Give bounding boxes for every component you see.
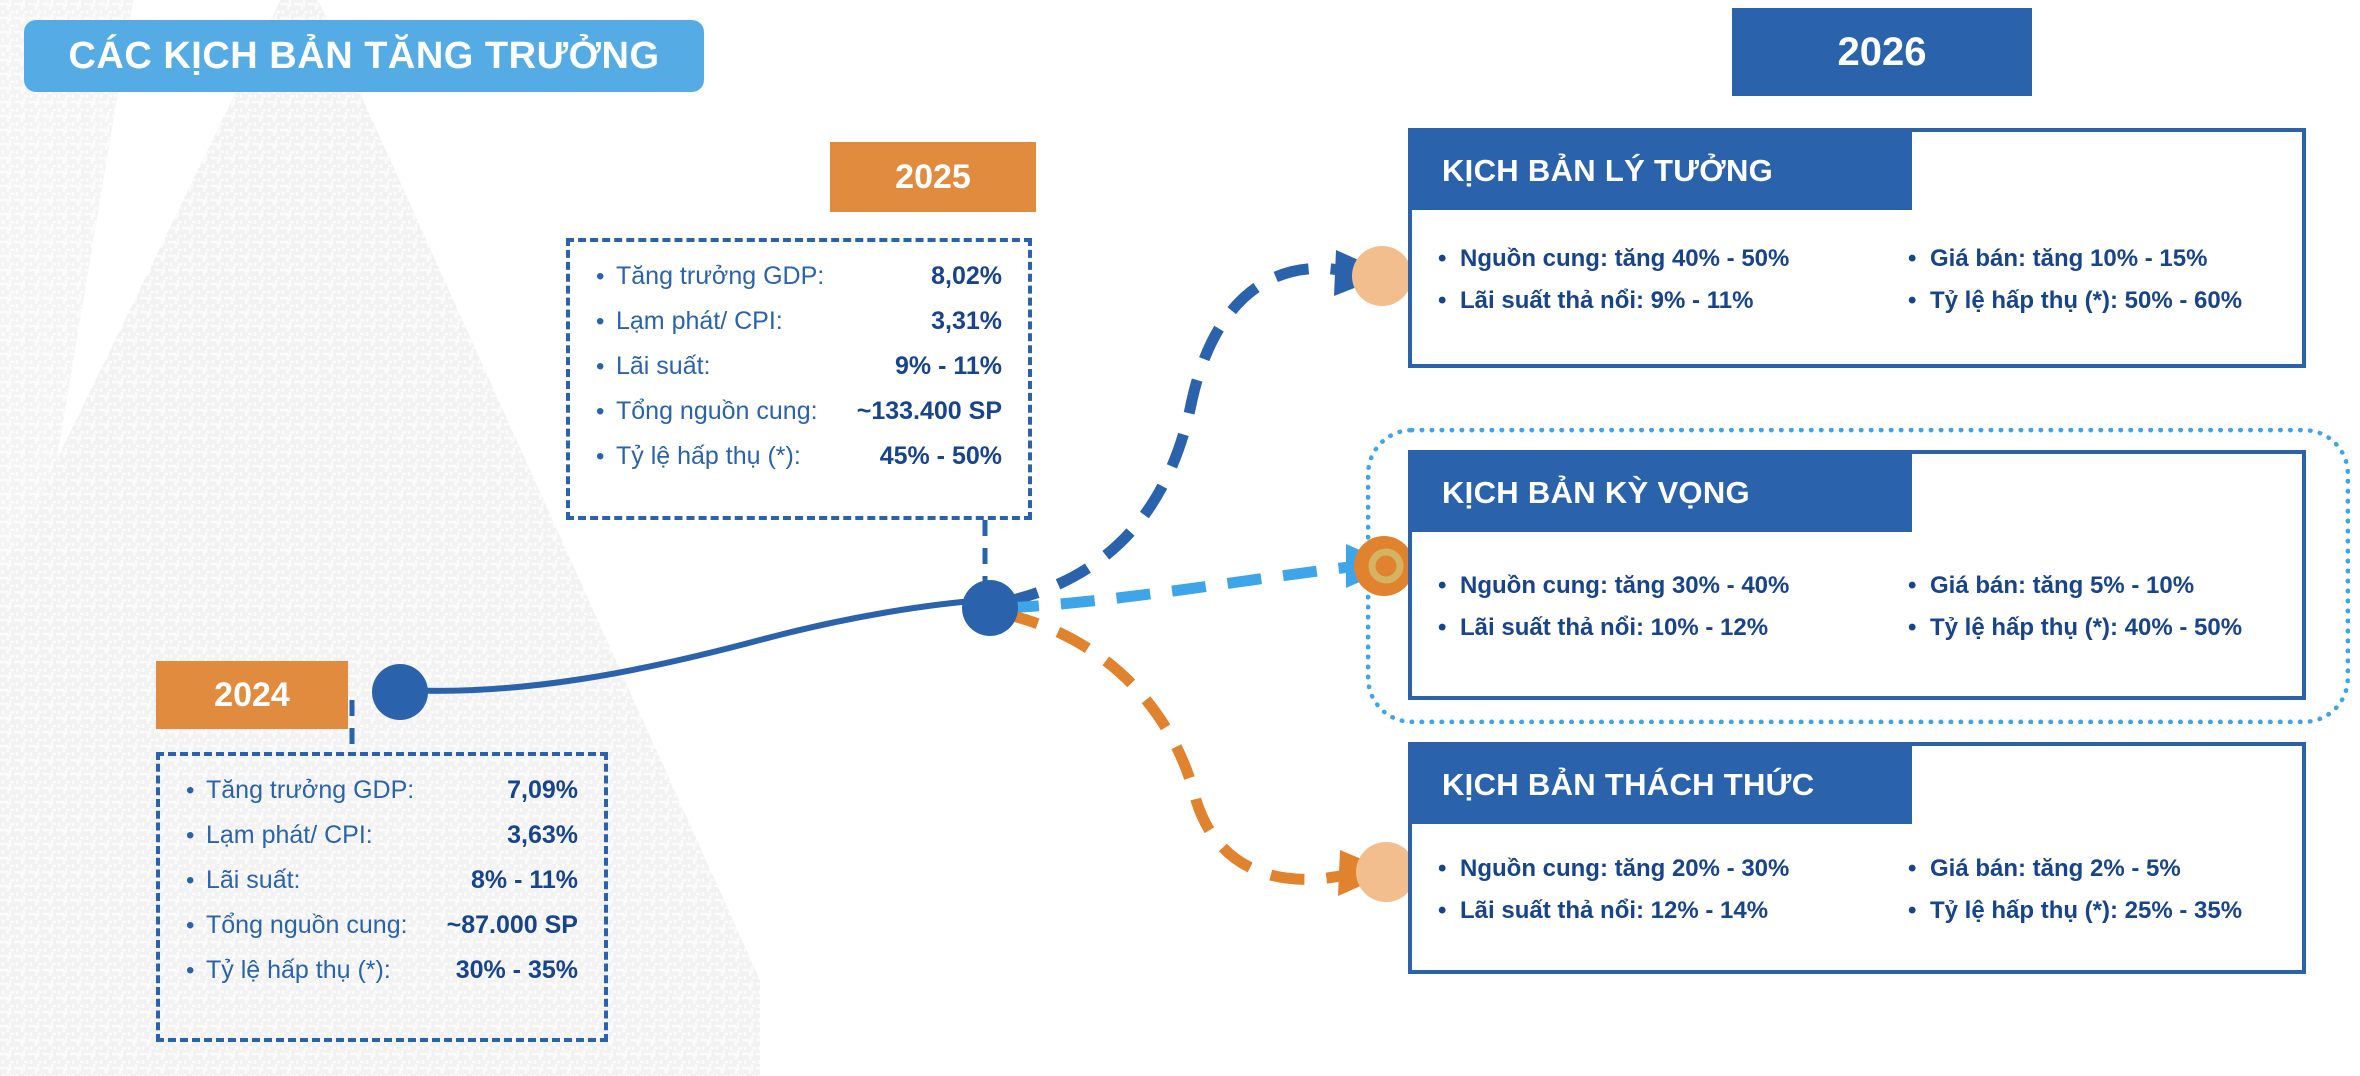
metric-value: 45% - 50% xyxy=(874,444,1002,469)
scenario-item-text: Nguồn cung: tăng 30% - 40% xyxy=(1460,572,1789,600)
scenario-line: • Nguồn cung: tăng 20% - 30% • Giá bán: … xyxy=(1438,855,2276,883)
scenario-card-expected[interactable]: KỊCH BẢN KỲ VỌNG • Nguồn cung: tăng 30% … xyxy=(1408,450,2306,700)
branch-expected xyxy=(1005,566,1358,608)
scenario-item: • Nguồn cung: tăng 40% - 50% xyxy=(1438,245,1908,273)
metrics-box-2024: • Tăng trưởng GDP: 7,09% • Lạm phát/ CPI… xyxy=(156,752,608,1042)
metric-row: • Tăng trưởng GDP: 8,02% xyxy=(596,264,1002,289)
scenario-body-expected: • Nguồn cung: tăng 30% - 40% • Giá bán: … xyxy=(1412,532,2302,696)
scenario-item: • Lãi suất thả nổi: 12% - 14% xyxy=(1438,897,1908,925)
bullet-icon: • xyxy=(1438,572,1460,600)
metric-row: • Tổng nguồn cung: ~87.000 SP xyxy=(186,913,578,938)
scenario-body-ideal: • Nguồn cung: tăng 40% - 50% • Giá bán: … xyxy=(1412,210,2302,364)
bullet-icon: • xyxy=(1438,855,1460,883)
scenario-header-challenge: KỊCH BẢN THÁCH THỨC xyxy=(1412,746,1912,824)
metric-value: 7,09% xyxy=(501,778,578,803)
branch-challenge xyxy=(1005,614,1350,879)
metric-value: ~133.400 SP xyxy=(851,399,1002,424)
year-badge-2026: 2026 xyxy=(1732,8,2032,96)
bullet-icon: • xyxy=(186,869,206,893)
timeline-node-2024 xyxy=(372,664,428,720)
metric-row: • Tăng trưởng GDP: 7,09% xyxy=(186,778,578,803)
bullet-icon: • xyxy=(596,310,616,334)
metric-row: • Tổng nguồn cung: ~133.400 SP xyxy=(596,399,1002,424)
metric-value: ~87.000 SP xyxy=(441,913,578,938)
scenario-item-text: Giá bán: tăng 10% - 15% xyxy=(1930,245,2207,273)
scenario-item-text: Tỷ lệ hấp thụ (*): 40% - 50% xyxy=(1930,614,2242,642)
trendline-2024-2025 xyxy=(400,600,985,691)
branch-ideal xyxy=(1005,268,1350,602)
year-badge-2025-label: 2025 xyxy=(895,158,971,197)
bullet-icon: • xyxy=(1438,614,1460,642)
scenario-item: • Lãi suất thả nổi: 9% - 11% xyxy=(1438,287,1908,315)
metric-label: Tăng trưởng GDP: xyxy=(206,778,434,803)
scenario-line: • Lãi suất thả nổi: 12% - 14% • Tỷ lệ hấ… xyxy=(1438,897,2276,925)
scenario-item: • Tỷ lệ hấp thụ (*): 25% - 35% xyxy=(1908,897,2276,925)
metric-label: Lãi suất: xyxy=(616,354,848,379)
bullet-icon: • xyxy=(186,914,206,938)
scenario-item: • Tỷ lệ hấp thụ (*): 50% - 60% xyxy=(1908,287,2276,315)
scenario-item-text: Lãi suất thả nổi: 12% - 14% xyxy=(1460,897,1768,925)
scenario-body-challenge: • Nguồn cung: tăng 20% - 30% • Giá bán: … xyxy=(1412,824,2302,970)
metric-row: • Lãi suất: 8% - 11% xyxy=(186,868,578,893)
metric-label: Tỷ lệ hấp thụ (*): xyxy=(616,444,848,469)
metric-label: Lạm phát/ CPI: xyxy=(616,309,848,334)
scenario-item: • Lãi suất thả nổi: 10% - 12% xyxy=(1438,614,1908,642)
bullet-icon: • xyxy=(1908,614,1930,642)
bullet-icon: • xyxy=(1438,245,1460,273)
bullet-icon: • xyxy=(596,400,616,424)
scenario-item-text: Lãi suất thả nổi: 9% - 11% xyxy=(1460,287,1753,315)
bullet-icon: • xyxy=(1908,897,1930,925)
bullet-icon: • xyxy=(596,445,616,469)
metric-label: Tổng nguồn cung: xyxy=(616,399,848,424)
bullet-icon: • xyxy=(1438,287,1460,315)
bullet-icon: • xyxy=(596,265,616,289)
scenario-line: • Nguồn cung: tăng 30% - 40% • Giá bán: … xyxy=(1438,572,2276,600)
endpoint-dot-challenge xyxy=(1356,842,1416,902)
bullet-icon: • xyxy=(186,959,206,983)
scenario-item: • Giá bán: tăng 10% - 15% xyxy=(1908,245,2276,273)
metric-row: • Tỷ lệ hấp thụ (*): 30% - 35% xyxy=(186,958,578,983)
page-title-text: CÁC KỊCH BẢN TĂNG TRƯỞNG xyxy=(68,35,659,78)
year-badge-2024-label: 2024 xyxy=(214,676,290,715)
scenario-header-expected: KỊCH BẢN KỲ VỌNG xyxy=(1412,454,1912,532)
bullet-icon: • xyxy=(186,779,206,803)
metric-value: 3,31% xyxy=(925,309,1002,334)
arrowhead-ideal xyxy=(1334,250,1390,296)
metric-label: Tỷ lệ hấp thụ (*): xyxy=(206,958,434,983)
scenario-item-text: Giá bán: tăng 2% - 5% xyxy=(1930,855,2181,883)
metric-row: • Tỷ lệ hấp thụ (*): 45% - 50% xyxy=(596,444,1002,469)
infographic-canvas: CÁC KỊCH BẢN TĂNG TRƯỞNG 2024 2025 2026 xyxy=(0,0,2360,1076)
scenario-title-challenge: KỊCH BẢN THÁCH THỨC xyxy=(1442,767,1814,803)
scenario-item-text: Giá bán: tăng 5% - 10% xyxy=(1930,572,2194,600)
bullet-icon: • xyxy=(1908,287,1930,315)
scenario-item-text: Nguồn cung: tăng 40% - 50% xyxy=(1460,245,1789,273)
arrowhead-challenge xyxy=(1338,850,1392,896)
metric-value: 8,02% xyxy=(925,264,1002,289)
metric-value: 9% - 11% xyxy=(889,354,1002,379)
scenario-card-challenge[interactable]: KỊCH BẢN THÁCH THỨC • Nguồn cung: tăng 2… xyxy=(1408,742,2306,974)
metrics-box-2025: • Tăng trưởng GDP: 8,02% • Lạm phát/ CPI… xyxy=(566,238,1032,520)
metric-label: Tổng nguồn cung: xyxy=(206,913,434,938)
scenario-item-text: Lãi suất thả nổi: 10% - 12% xyxy=(1460,614,1768,642)
metric-value: 3,63% xyxy=(501,823,578,848)
endpoint-dot-ideal xyxy=(1352,246,1412,306)
metric-label: Lãi suất: xyxy=(206,868,434,893)
scenario-item: • Giá bán: tăng 2% - 5% xyxy=(1908,855,2276,883)
scenario-line: • Lãi suất thả nổi: 9% - 11% • Tỷ lệ hấp… xyxy=(1438,287,2276,315)
scenario-title-ideal: KỊCH BẢN LÝ TƯỞNG xyxy=(1442,153,1773,189)
scenario-item-text: Tỷ lệ hấp thụ (*): 25% - 35% xyxy=(1930,897,2242,925)
year-badge-2026-label: 2026 xyxy=(1838,30,1927,75)
scenario-item-text: Tỷ lệ hấp thụ (*): 50% - 60% xyxy=(1930,287,2242,315)
metric-label: Tăng trưởng GDP: xyxy=(616,264,848,289)
bullet-icon: • xyxy=(1908,245,1930,273)
year-badge-2025: 2025 xyxy=(830,142,1036,212)
bullet-icon: • xyxy=(1438,897,1460,925)
scenario-item: • Nguồn cung: tăng 20% - 30% xyxy=(1438,855,1908,883)
scenario-title-expected: KỊCH BẢN KỲ VỌNG xyxy=(1442,475,1750,511)
scenario-item: • Giá bán: tăng 5% - 10% xyxy=(1908,572,2276,600)
year-badge-2024: 2024 xyxy=(156,661,348,729)
metric-value: 30% - 35% xyxy=(450,958,578,983)
scenario-item-text: Nguồn cung: tăng 20% - 30% xyxy=(1460,855,1789,883)
bullet-icon: • xyxy=(186,824,206,848)
scenario-line: • Nguồn cung: tăng 40% - 50% • Giá bán: … xyxy=(1438,245,2276,273)
metric-row: • Lạm phát/ CPI: 3,63% xyxy=(186,823,578,848)
scenario-line: • Lãi suất thả nổi: 10% - 12% • Tỷ lệ hấ… xyxy=(1438,614,2276,642)
metric-label: Lạm phát/ CPI: xyxy=(206,823,434,848)
scenario-card-ideal[interactable]: KỊCH BẢN LÝ TƯỞNG • Nguồn cung: tăng 40%… xyxy=(1408,128,2306,368)
metric-value: 8% - 11% xyxy=(465,868,578,893)
bullet-icon: • xyxy=(596,355,616,379)
bullet-icon: • xyxy=(1908,855,1930,883)
timeline-node-2025 xyxy=(962,580,1018,636)
page-title: CÁC KỊCH BẢN TĂNG TRƯỞNG xyxy=(24,20,704,92)
metric-row: • Lãi suất: 9% - 11% xyxy=(596,354,1002,379)
metric-row: • Lạm phát/ CPI: 3,31% xyxy=(596,309,1002,334)
scenario-header-ideal: KỊCH BẢN LÝ TƯỞNG xyxy=(1412,132,1912,210)
bullet-icon: • xyxy=(1908,572,1930,600)
scenario-item: • Nguồn cung: tăng 30% - 40% xyxy=(1438,572,1908,600)
scenario-item: • Tỷ lệ hấp thụ (*): 40% - 50% xyxy=(1908,614,2276,642)
